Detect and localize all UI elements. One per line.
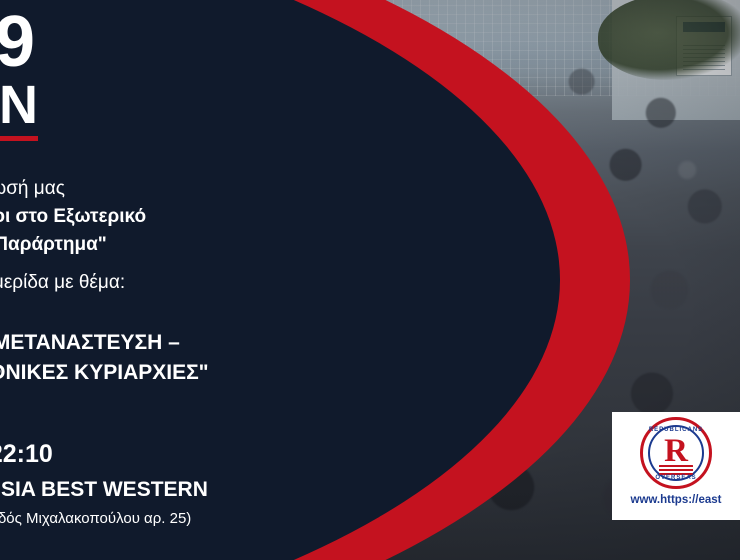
event-venue: είο ILISIA BEST WESTERN	[0, 478, 208, 502]
poster-text-content: 29 AN οργάνωσή μας ιλικάνοι στο Εξωτερικ…	[0, 0, 330, 560]
republicans-overseas-seal-icon: REPUBLICANS R OVERSEAS	[640, 417, 712, 489]
date-month: AN	[0, 78, 38, 132]
seal-stripes-icon	[659, 464, 693, 475]
website-url[interactable]: www.https://east	[612, 494, 740, 506]
intro-line-1: οργάνωσή μας	[0, 175, 280, 203]
event-title: ΟΜΗ ΜΕΤΑΝΑΣΤΕΥΣΗ – ΤΙΣ ΕΘΝΙΚΕΣ ΚΥΡΙΑΡΧΙΕ…	[0, 328, 298, 388]
seal-bottom-text: OVERSEAS	[643, 475, 709, 481]
intro-paragraph: οργάνωσή μας ιλικάνοι στο Εξωτερικό ηνικ…	[0, 175, 280, 297]
intro-spacer	[0, 259, 280, 269]
title-line-2: ΤΙΣ ΕΘΝΙΚΕΣ ΚΥΡΙΑΡΧΙΕΣ"	[0, 358, 298, 388]
event-address: ήτων, οδός Μιχαλακοπούλου αρ. 25)	[0, 510, 191, 527]
event-time: – 22:10	[0, 440, 53, 469]
intro-line-4: ώνει ημερίδα με θέμα:	[0, 269, 280, 297]
event-poster: 29 AN οργάνωσή μας ιλικάνοι στο Εξωτερικ…	[0, 0, 740, 560]
intro-line-3: ηνικό Παράρτημα"	[0, 231, 280, 259]
date-day: 29	[0, 6, 34, 78]
title-line-1: ΟΜΗ ΜΕΤΑΝΑΣΤΕΥΣΗ –	[0, 328, 298, 358]
organization-logo-card: REPUBLICANS R OVERSEAS www.https://east	[612, 412, 740, 520]
date-divider	[0, 136, 38, 141]
intro-line-2: ιλικάνοι στο Εξωτερικό	[0, 203, 280, 231]
